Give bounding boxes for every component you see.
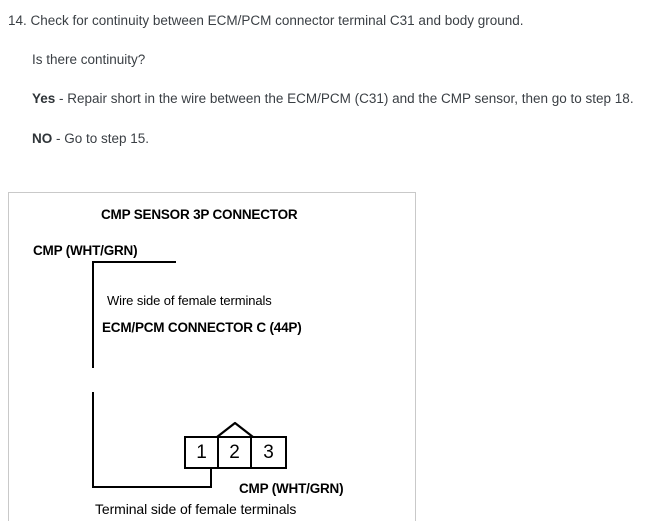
label-cmp-wht-grn-top: CMP (WHT/GRN) (33, 243, 137, 258)
wiring-diagram-figure: CMP SENSOR 3P CONNECTOR CMP (WHT/GRN) Wi… (8, 192, 416, 521)
answer-no-text: - Go to step 15. (52, 131, 149, 146)
connector-3p-pin-1: 1 (186, 438, 219, 467)
wire-left-vertical-upper (92, 261, 94, 368)
label-cmp-wht-grn-bottom: CMP (WHT/GRN) (239, 481, 343, 496)
procedure-text-block: 14. Check for continuity between ECM/PCM… (0, 0, 660, 169)
procedure-question: Is there continuity? (32, 51, 652, 69)
connector-3p-pin-row: 1 2 3 (184, 436, 287, 469)
connector-3p-pin-3: 3 (252, 438, 285, 467)
caption-terminal-side: Terminal side of female terminals (95, 501, 296, 517)
connector-3p-pin-2: 2 (219, 438, 252, 467)
figure-title-3p-connector: CMP SENSOR 3P CONNECTOR (101, 207, 297, 222)
wire-bottom-horizontal (92, 486, 212, 488)
wiring-diagram-canvas: CMP SENSOR 3P CONNECTOR CMP (WHT/GRN) Wi… (9, 193, 415, 521)
caption-wire-side: Wire side of female terminals (107, 293, 272, 308)
wire-left-vertical-lower (92, 392, 94, 488)
page-root: 14. Check for continuity between ECM/PCM… (0, 0, 660, 521)
connector-3p-keyway-icon (216, 421, 254, 437)
procedure-answer-no: NO - Go to step 15. (32, 130, 652, 148)
wire-top-horizontal (92, 261, 176, 263)
answer-no-label: NO (32, 131, 52, 146)
procedure-step-14: 14. Check for continuity between ECM/PCM… (22, 12, 652, 30)
figure-title-ecm-connector: ECM/PCM CONNECTOR C (44P) (102, 320, 302, 335)
answer-yes-text: - Repair short in the wire between the E… (55, 91, 633, 106)
procedure-answer-yes: Yes - Repair short in the wire between t… (32, 90, 652, 108)
answer-yes-label: Yes (32, 91, 55, 106)
